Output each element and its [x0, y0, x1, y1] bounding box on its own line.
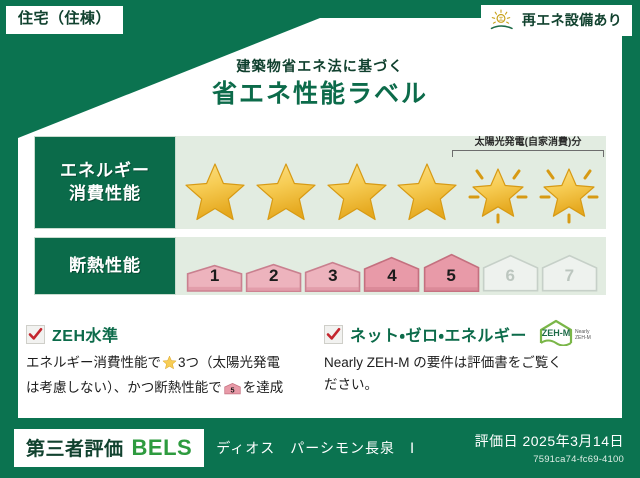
insulation-grade-value: 5 — [423, 267, 480, 284]
inline-star-icon — [162, 358, 177, 373]
insulation-grade-badge: 7 — [541, 246, 598, 292]
zeh-title: ZEH水準 — [52, 322, 119, 346]
zeh-desc-part2: 3つ（太陽光発電 — [178, 355, 280, 370]
svg-text:5: 5 — [230, 385, 234, 394]
solar-star-icon — [465, 159, 531, 225]
sun-icon: エ — [489, 9, 515, 31]
insulation-grade-badge: 5 — [423, 244, 480, 292]
insulation-grade-badge: 3 — [304, 254, 361, 292]
nze-checkbox[interactable] — [324, 325, 343, 344]
solar-star-icon — [536, 159, 602, 225]
building-type-tag: 住宅（住棟） — [6, 6, 123, 34]
criterion-zeh-standard: ZEH水準 エネルギー消費性能で3つ（太陽光発電 は考慮しない）、かつ断熱性能で… — [26, 322, 324, 403]
criteria-section: ZEH水準 エネルギー消費性能で3つ（太陽光発電 は考慮しない）、かつ断熱性能で… — [26, 322, 622, 403]
evaluation-id: 7591ca74-fc69-4100 — [475, 454, 624, 465]
insulation-grade-badge: 4 — [363, 248, 420, 292]
bels-jp-label: 第三者評価 — [26, 434, 124, 461]
star-icon — [253, 159, 319, 225]
solar-annotation-label: 太陽光発電(自家消費)分 — [452, 138, 604, 148]
energy-rating-panel: 太陽光発電(自家消費)分 — [176, 136, 606, 229]
insulation-row-label-text: 断熱性能 — [69, 255, 141, 277]
energy-row-label-line1: エネルギー — [60, 160, 150, 182]
bels-certification-badge: 第三者評価 BELS — [14, 429, 204, 467]
zeh-desc-part1: エネルギー消費性能で — [26, 355, 161, 370]
building-name: ディオス パーシモン長泉 Ⅰ — [216, 438, 415, 458]
nze-description: Nearly ZEH-M の要件は評価書をご覧く ださい。 — [324, 352, 612, 396]
heading-title: 省エネ性能ラベル — [0, 80, 640, 109]
insulation-grade-badge: 1 — [186, 258, 243, 292]
insulation-grade-value: 6 — [482, 267, 539, 284]
heading-subtitle: 建築物省エネ法に基づく — [0, 58, 640, 75]
evaluation-date: 評価日 2025年3月14日 — [475, 431, 624, 451]
energy-performance-row: エネルギー 消費性能 太陽光発電(自家消費)分 — [34, 136, 606, 229]
insulation-grade-value: 3 — [304, 267, 361, 284]
insulation-grade-badge: 2 — [245, 256, 302, 292]
star-icon — [182, 159, 248, 225]
insulation-grade-value: 7 — [541, 267, 598, 284]
label-footer: 第三者評価 BELS ディオス パーシモン長泉 Ⅰ 評価日 2025年3月14日… — [0, 418, 640, 478]
inline-house-icon: 5 — [224, 384, 241, 399]
insulation-grade-value: 2 — [245, 267, 302, 284]
insulation-row-label: 断熱性能 — [34, 237, 176, 295]
insulation-grade-value: 1 — [186, 267, 243, 284]
energy-row-label-line2: 消費性能 — [69, 183, 141, 205]
svg-text:ZEH-M: ZEH-M — [575, 335, 591, 341]
nze-desc-line2: ださい。 — [324, 377, 378, 392]
nze-desc-line1: Nearly ZEH-M の要件は評価書をご覧く — [324, 355, 562, 370]
zeh-description: エネルギー消費性能で3つ（太陽光発電 は考慮しない）、かつ断熱性能で5を達成 — [26, 352, 314, 403]
solar-bracket — [452, 150, 604, 157]
bels-en-label: BELS — [132, 435, 193, 461]
label-heading: 建築物省エネ法に基づく 省エネ性能ラベル — [0, 58, 640, 109]
solar-generation-annotation: 太陽光発電(自家消費)分 — [452, 138, 604, 157]
star-icon — [394, 159, 460, 225]
insulation-performance-row: 断熱性能 1 — [34, 237, 606, 295]
svg-text:ZEH-M: ZEH-M — [542, 328, 571, 338]
svg-text:エ: エ — [498, 17, 503, 23]
insulation-rating-panel: 1 2 3 — [176, 237, 606, 295]
evaluation-info: 評価日 2025年3月14日 7591ca74-fc69-4100 — [475, 431, 624, 465]
criterion-nze-header: ネット・ゼロ・エネルギー ZEH-M Nearly ZEH-M — [324, 322, 612, 346]
energy-performance-label: 住宅（住棟） エ 再エネ設備あり 建築物省エネ法に基づ — [0, 0, 640, 478]
building-type-label: 住宅（住棟） — [18, 10, 111, 27]
renewable-badge-label: 再エネ設備あり — [522, 10, 622, 30]
criterion-net-zero-energy: ネット・ゼロ・エネルギー ZEH-M Nearly ZEH-M Nearly Z… — [324, 322, 622, 403]
nze-title: ネット・ゼロ・エネルギー — [350, 322, 527, 346]
performance-section: エネルギー 消費性能 太陽光発電(自家消費)分 — [34, 136, 606, 295]
zeh-desc-part4: を達成 — [243, 380, 284, 395]
renewable-equipment-badge: エ 再エネ設備あり — [481, 5, 632, 36]
star-icon — [324, 159, 390, 225]
zeh-checkbox[interactable] — [26, 325, 45, 344]
insulation-grade-scale: 1 2 3 — [186, 240, 598, 292]
energy-row-label: エネルギー 消費性能 — [34, 136, 176, 229]
energy-star-rating — [182, 155, 602, 225]
zeh-desc-part3: は考慮しない）、かつ断熱性能で — [26, 380, 222, 395]
zeh-m-logo-icon: ZEH-M Nearly ZEH-M — [538, 318, 596, 351]
insulation-grade-value: 4 — [363, 267, 420, 284]
insulation-grade-badge: 6 — [482, 246, 539, 292]
criterion-zeh-header: ZEH水準 — [26, 322, 314, 346]
